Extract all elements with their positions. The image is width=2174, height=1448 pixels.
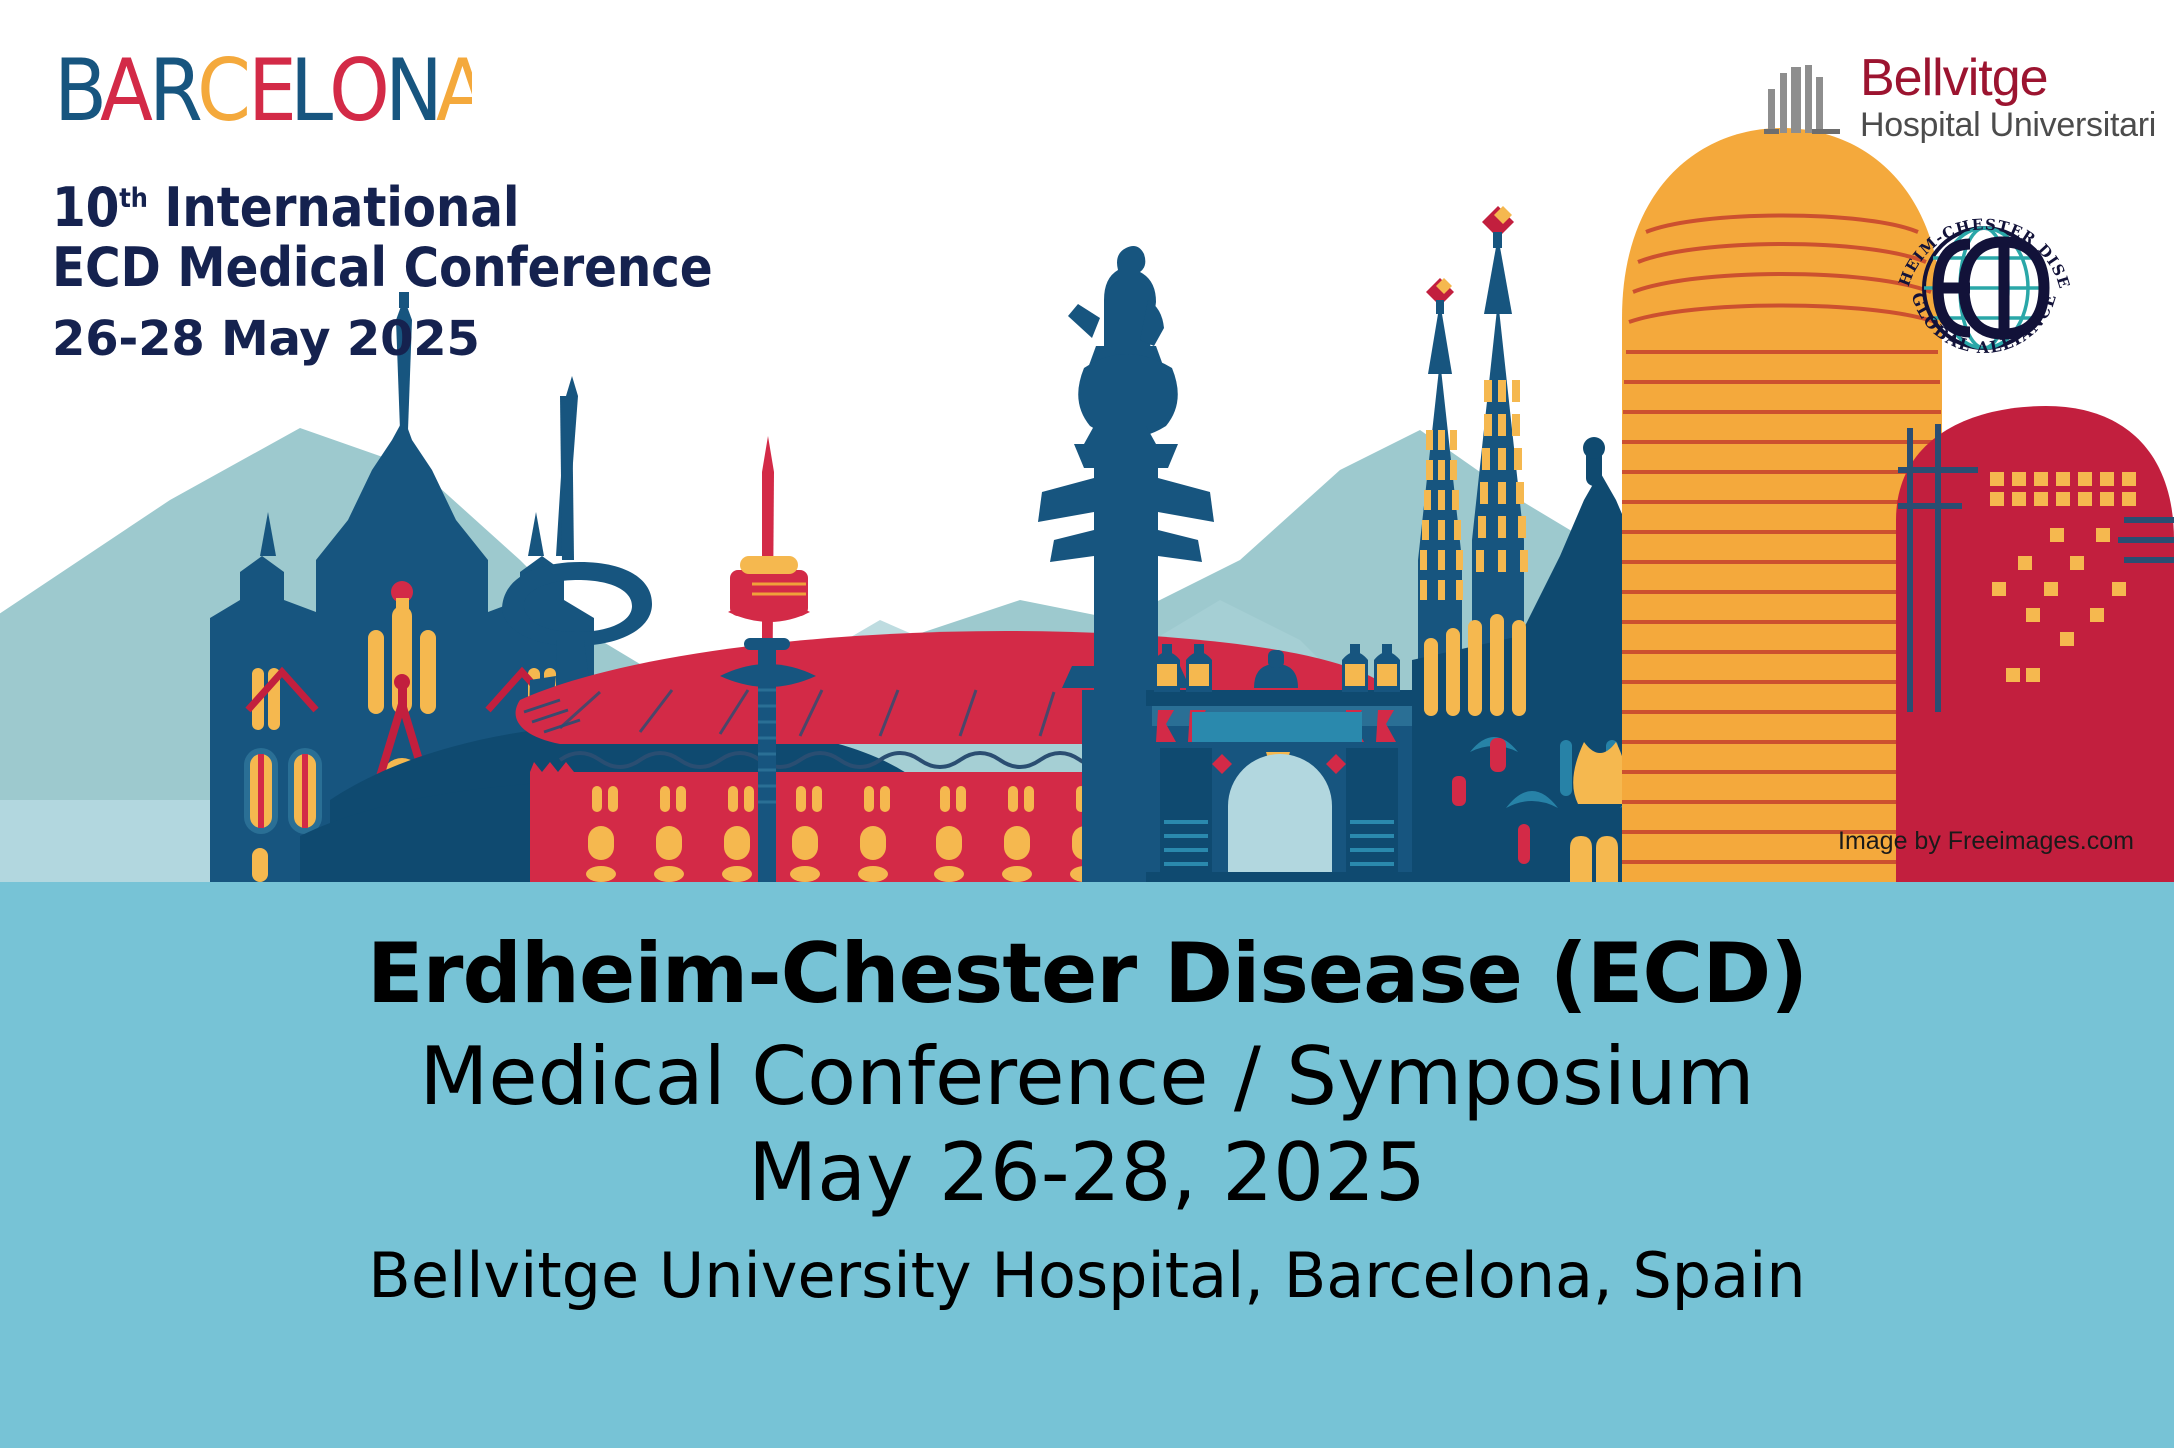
conference-banner: B A R C E L O N A 10th International ECD…: [0, 0, 2174, 1448]
modern-red-building: [1896, 406, 2174, 882]
svg-text:O: O: [329, 41, 391, 136]
svg-text:R: R: [149, 41, 204, 136]
svg-text:L: L: [290, 41, 334, 136]
svg-text:C: C: [197, 41, 252, 136]
ecd-globe-icon: ERDHEIM-CHESTER DISEASE GLOBAL ALLIANCE: [1884, 186, 2084, 386]
edition-number: 10: [52, 176, 119, 239]
conference-line-2: ECD Medical Conference: [52, 238, 713, 298]
event-venue: Bellvitge University Hospital, Barcelona…: [0, 1241, 2174, 1310]
edition-ordinal: th: [119, 183, 148, 214]
bellvitge-text-block: Bellvitge Hospital Universitari: [1860, 52, 2156, 142]
svg-text:A: A: [100, 41, 154, 136]
bellvitge-building-icon: [1764, 59, 1844, 135]
event-subtitle: Medical Conference / Symposium: [0, 1032, 2174, 1122]
ecd-global-alliance-logo: ERDHEIM-CHESTER DISEASE GLOBAL ALLIANCE: [1884, 186, 2084, 386]
bellvitge-subtitle: Hospital Universitari: [1860, 108, 2156, 142]
conference-heading-block: 10th International ECD Medical Conferenc…: [52, 178, 713, 367]
event-info-panel: Erdheim-Chester Disease (ECD) Medical Co…: [0, 882, 2174, 1448]
barcelona-wordmark-logo: B A R C E L O N A: [52, 40, 472, 136]
edition-rest: International: [148, 176, 520, 239]
svg-text:A: A: [436, 41, 472, 136]
ecd-arc-bottom-text: GLOBAL ALLIANCE: [1908, 290, 2061, 357]
conference-line-1: 10th International: [52, 178, 713, 238]
barcelona-wordmark-svg: B A R C E L O N A: [52, 40, 472, 136]
event-title: Erdheim-Chester Disease (ECD): [0, 882, 2174, 1018]
event-date: May 26-28, 2025: [0, 1128, 2174, 1218]
bellvitge-hospital-logo: Bellvitge Hospital Universitari: [1764, 52, 2156, 142]
conference-dates-small: 26-28 May 2025: [52, 311, 713, 367]
arc-de-triomf: [1146, 644, 1418, 882]
bellvitge-name: Bellvitge: [1860, 52, 2156, 104]
image-credit: Image by Freeimages.com: [1838, 827, 2134, 856]
